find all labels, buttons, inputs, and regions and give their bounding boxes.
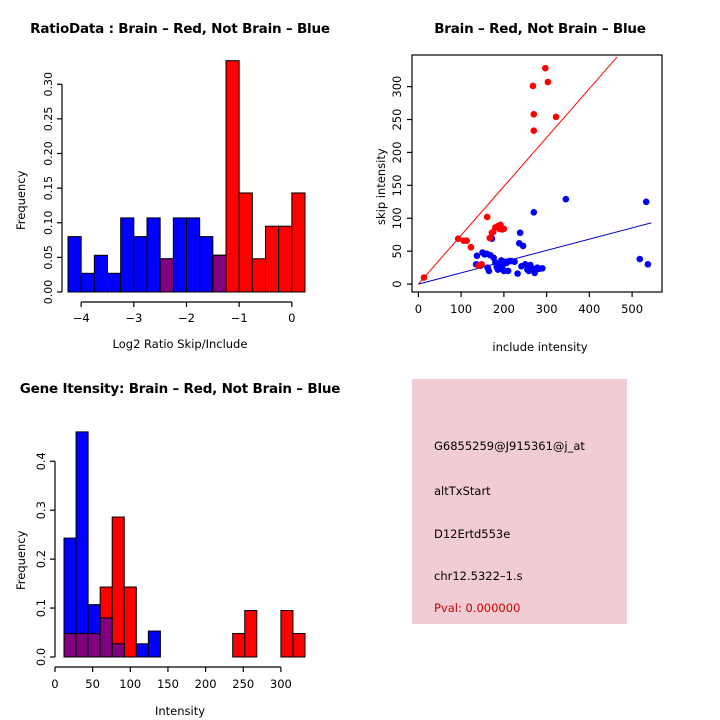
scatter-x-axis-label: include intensity [360, 340, 720, 354]
scatter-point-brain [468, 244, 475, 251]
scatter-x-tick-label: 500 [621, 302, 643, 316]
gene-y-tick-label: 0.1 [34, 599, 48, 617]
gene-bar-brain [124, 587, 136, 657]
genomic-locus: chr12.5322–1.s [434, 569, 523, 583]
ratio-bar-brain [279, 226, 292, 292]
gene-x-tick-label: 200 [195, 677, 217, 691]
scatter-point-notbrain [643, 199, 650, 206]
gene-probe-id: G6855259@J915361@j_at [434, 439, 585, 453]
gene-y-tick-label: 0.0 [34, 648, 48, 666]
r-plot-page: RatioData : Brain – Red, Not Brain – Blu… [0, 0, 720, 720]
gene-y-tick-label: 0.4 [34, 452, 48, 470]
pval-text: Pval: 0.000000 [434, 601, 520, 615]
scatter-point-brain [530, 83, 537, 90]
gene-y-axis-label: Frequency [14, 531, 28, 590]
gene-bar-notbrain [136, 644, 148, 657]
ratio-x-tick-label: 0 [288, 311, 295, 325]
scatter-point-brain [530, 111, 537, 118]
scatter-y-tick-label: 100 [390, 207, 404, 229]
scatter-point-notbrain [636, 256, 643, 263]
gene-info-panel: G6855259@J915361@j_at altTxStart D12Ertd… [360, 360, 720, 720]
ratio-x-tick-label: −2 [178, 311, 195, 325]
ratio-bar-brain [292, 193, 305, 292]
gene-bar-overlap [64, 634, 76, 657]
gene-bar-brain [245, 611, 257, 657]
ratio-y-tick-label: 0.00 [42, 280, 55, 305]
scatter-y-tick-label: 0 [390, 280, 404, 287]
ratio-y-tick-label: 0.20 [42, 141, 55, 166]
scatter-point-brain [545, 79, 552, 86]
ratio-bar-overlap [213, 255, 226, 292]
ratio-x-axis-label: Log2 Ratio Skip/Include [0, 337, 360, 351]
scatter-plot-frame [412, 55, 662, 292]
gene-y-tick-label: 0.3 [34, 501, 48, 519]
scatter-point-brain [484, 214, 491, 221]
ratio-y-tick-label: 0.15 [42, 176, 55, 201]
gene-bar-overlap [112, 644, 124, 657]
ratio-y-tick-label: 0.05 [42, 245, 55, 270]
gene-bar-overlap [100, 618, 112, 657]
ratio-histogram-panel: RatioData : Brain – Red, Not Brain – Blu… [0, 0, 360, 360]
ratio-bar-brain [226, 61, 239, 292]
ratio-bar-brain [239, 193, 252, 292]
gene-x-tick-label: 0 [51, 677, 58, 691]
scatter-point-notbrain [514, 270, 521, 277]
ratio-bar-notbrain [121, 218, 134, 292]
scatter-point-notbrain [530, 209, 537, 216]
scatter-x-tick-label: 0 [415, 302, 422, 316]
ratio-x-tick-label: −3 [125, 311, 142, 325]
scatter-y-tick-label: 200 [390, 141, 404, 163]
scatter-point-notbrain [511, 258, 518, 265]
gene-bar-notbrain [76, 432, 88, 657]
ratio-y-axis-label: Frequency [14, 171, 28, 230]
scatter-y-tick-label: 150 [390, 174, 404, 196]
scatter-point-notbrain [520, 243, 527, 250]
gene-bar-overlap [88, 634, 100, 657]
gene-bar-notbrain [148, 631, 160, 657]
ratio-bar-overlap [160, 259, 173, 292]
scatter-point-notbrain [517, 229, 524, 236]
gene-symbol: D12Ertd553e [434, 527, 510, 541]
scatter-point-brain [542, 65, 549, 72]
gene-intensity-panel: Gene Itensity: Brain – Red, Not Brain – … [0, 360, 360, 720]
scatter-panel: Brain – Red, Not Brain – Blue 0501001502… [360, 0, 720, 360]
ratio-y-tick-label: 0.10 [42, 210, 55, 235]
scatter-y-tick-label: 50 [390, 244, 404, 259]
scatter-y-tick-label: 300 [390, 76, 404, 98]
gene-bar-brain [281, 611, 293, 657]
gene-bar-brain [293, 634, 305, 657]
scatter-y-axis-label: skip intensity [374, 148, 388, 225]
ratio-bar-brain [252, 259, 265, 292]
gene-x-tick-label: 50 [85, 677, 100, 691]
event-type: altTxStart [434, 484, 491, 498]
scatter-point-brain [463, 237, 470, 244]
ratio-x-tick-label: −4 [73, 311, 90, 325]
scatter-x-tick-label: 300 [536, 302, 558, 316]
gene-bar-brain [112, 517, 124, 657]
ratio-bar-notbrain [187, 218, 200, 292]
ratio-bar-notbrain [108, 273, 121, 292]
scatter-y-tick-label: 250 [390, 109, 404, 131]
gene-x-tick-label: 250 [232, 677, 254, 691]
scatter-trend-line [418, 57, 617, 284]
scatter-point-brain [421, 274, 428, 281]
ratio-bar-notbrain [81, 273, 94, 292]
ratio-bar-notbrain [94, 255, 107, 292]
scatter-point-brain [501, 226, 508, 233]
gene-x-tick-label: 150 [157, 677, 179, 691]
gene-x-tick-label: 300 [270, 677, 292, 691]
scatter-point-brain [530, 127, 537, 134]
ratio-bar-notbrain [200, 237, 213, 292]
scatter-point-notbrain [645, 261, 652, 268]
scatter-point-notbrain [486, 268, 493, 275]
scatter-point-notbrain [539, 265, 546, 272]
scatter-x-tick-label: 100 [450, 302, 472, 316]
ratio-bar-notbrain [173, 218, 186, 292]
gene-bar-brain [233, 634, 245, 657]
scatter-point-notbrain [474, 252, 481, 259]
ratio-bar-brain [266, 226, 279, 292]
scatter-point-notbrain [563, 196, 570, 203]
gene-x-tick-label: 100 [119, 677, 141, 691]
gene-bar-overlap [76, 634, 88, 657]
scatter-point-notbrain [505, 268, 512, 275]
ratio-histogram-canvas: 0.000.050.100.150.200.250.30−4−3−2−10 [0, 0, 360, 360]
ratio-y-tick-label: 0.30 [42, 72, 55, 97]
scatter-x-tick-label: 400 [578, 302, 600, 316]
ratio-y-tick-label: 0.25 [42, 107, 55, 131]
ratio-bar-notbrain [68, 237, 81, 292]
ratio-x-tick-label: −1 [231, 311, 248, 325]
gene-intensity-canvas: 0.00.10.20.30.4050100150200250300 [0, 360, 360, 720]
gene-info-box: G6855259@J915361@j_at altTxStart D12Ertd… [412, 379, 627, 624]
scatter-data-group [418, 57, 651, 284]
scatter-point-brain [553, 114, 560, 121]
gene-x-axis-label: Intensity [0, 704, 360, 718]
ratio-bar-notbrain [134, 237, 147, 292]
gene-y-tick-label: 0.2 [34, 550, 48, 568]
scatter-canvas: 0501001502002503000100200300400500 [360, 0, 720, 360]
scatter-point-brain [478, 261, 485, 268]
scatter-x-tick-label: 200 [493, 302, 515, 316]
ratio-bar-notbrain [147, 218, 160, 292]
